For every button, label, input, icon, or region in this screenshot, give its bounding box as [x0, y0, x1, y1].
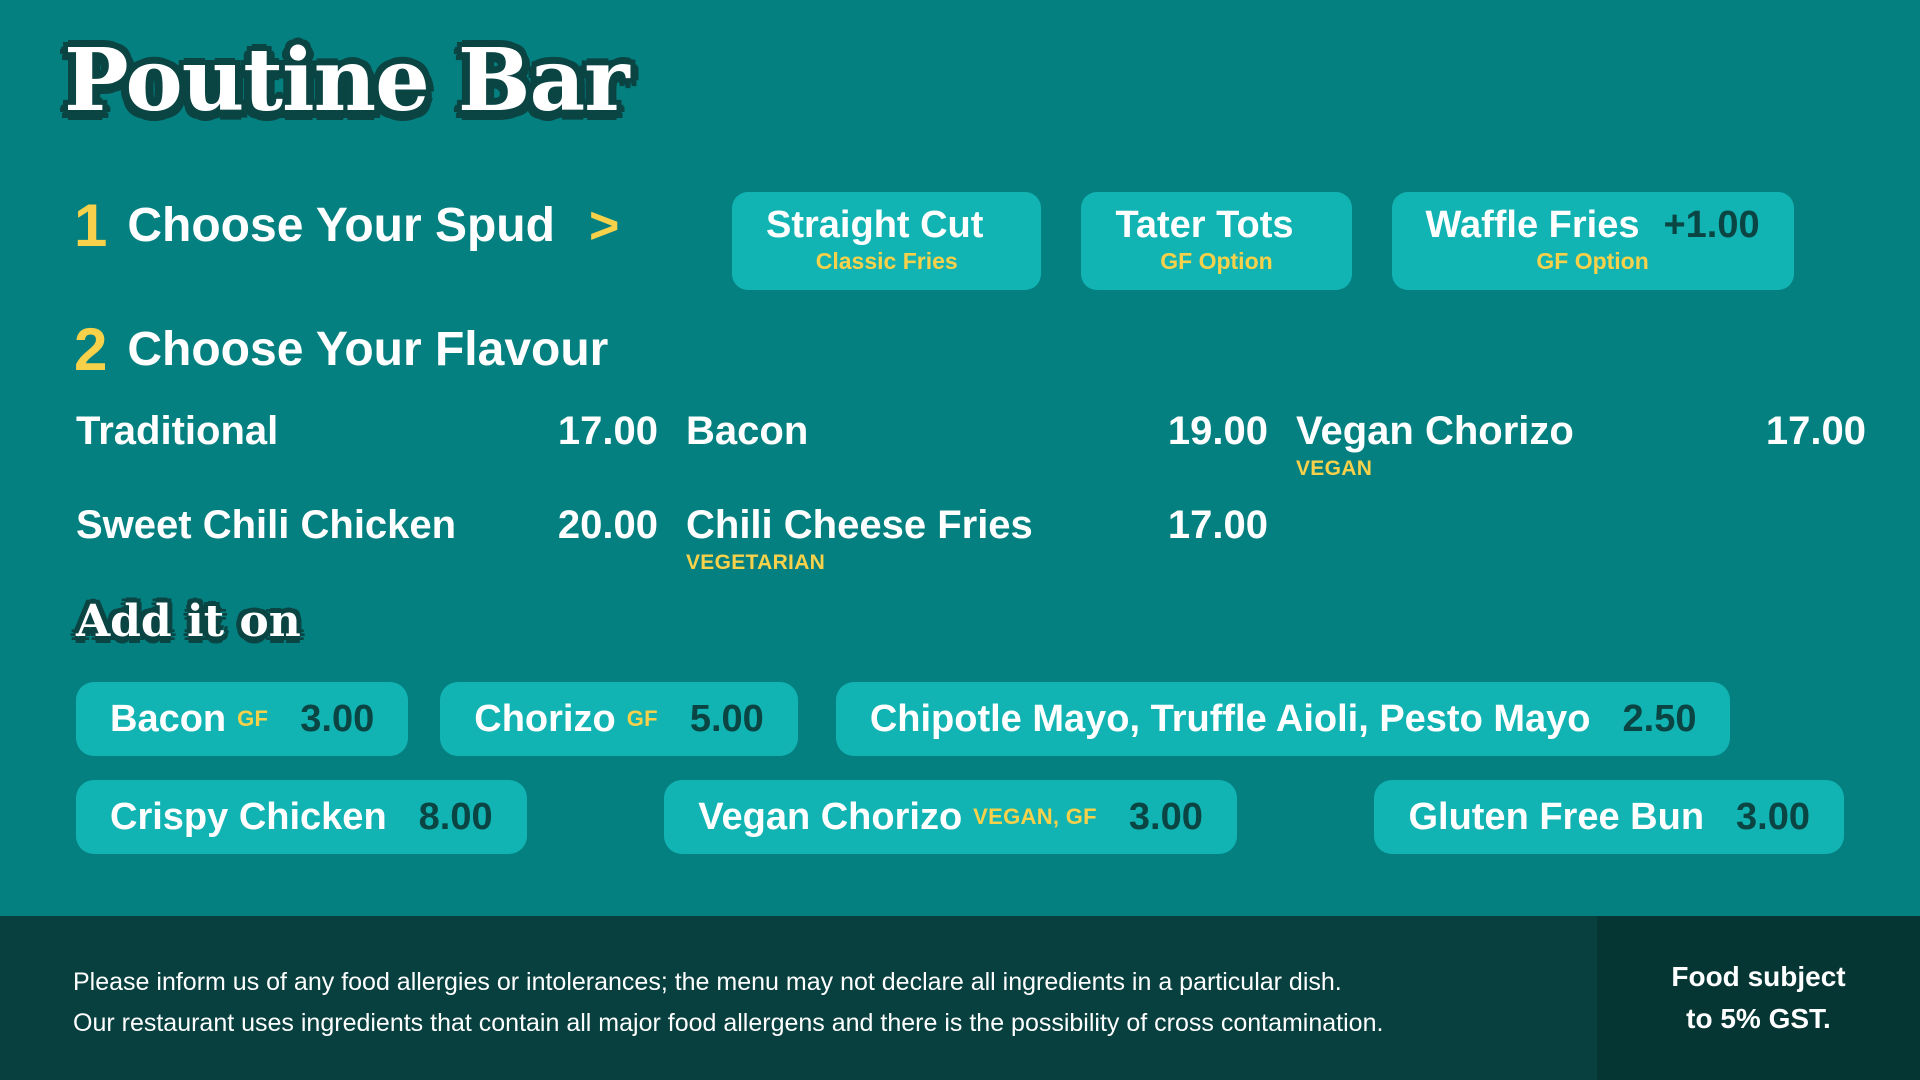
- gst-notice-line-2: to 5% GST.: [1686, 998, 1831, 1040]
- addons-list: Bacon GF 3.00 Chorizo GF 5.00 Chipotle M…: [76, 682, 1844, 878]
- flavour-item-traditional[interactable]: Traditional 17.00: [76, 410, 686, 452]
- addon-item-vegan-chorizo[interactable]: Vegan Chorizo VEGAN, GF 3.00: [664, 780, 1237, 854]
- flavour-item-bacon[interactable]: Bacon 19.00: [686, 410, 1296, 452]
- addon-price: 5.00: [690, 700, 764, 738]
- addon-item-crispy-chicken[interactable]: Crispy Chicken 8.00: [76, 780, 527, 854]
- spud-option-subtitle: GF Option: [1160, 249, 1272, 274]
- flavour-texts: Sweet Chili Chicken: [76, 504, 488, 546]
- addon-name: Chorizo: [474, 700, 615, 738]
- flavour-texts: Bacon: [686, 410, 1098, 452]
- addon-item-mayo-selection[interactable]: Chipotle Mayo, Truffle Aioli, Pesto Mayo…: [836, 682, 1731, 756]
- page-title: Poutine Bar: [64, 38, 629, 124]
- flavour-row: Sweet Chili Chicken 20.00 Chili Cheese F…: [76, 504, 1866, 576]
- step-2-label: Choose Your Flavour: [127, 326, 608, 374]
- spud-option-main: Tater Tots: [1115, 206, 1317, 246]
- gst-notice: Food subject to 5% GST.: [1597, 916, 1920, 1080]
- spud-option-tater-tots[interactable]: Tater Tots GF Option: [1081, 192, 1351, 290]
- gst-notice-line-1: Food subject: [1671, 956, 1845, 998]
- flavour-price: 17.00: [488, 410, 686, 452]
- flavour-texts: Traditional: [76, 410, 488, 452]
- addon-price: 3.00: [1736, 798, 1810, 836]
- addon-diet-tag: GF: [237, 708, 268, 730]
- flavour-name: Bacon: [686, 410, 1098, 452]
- spud-option-waffle-fries[interactable]: Waffle Fries +1.00 GF Option: [1392, 192, 1794, 290]
- spud-option-subtitle: GF Option: [1536, 249, 1648, 274]
- flavour-price: 20.00: [488, 504, 686, 546]
- addon-row: Crispy Chicken 8.00 Vegan Chorizo VEGAN,…: [76, 780, 1844, 854]
- flavour-item-sweet-chili-chicken[interactable]: Sweet Chili Chicken 20.00: [76, 504, 686, 546]
- addon-price: 3.00: [300, 700, 374, 738]
- allergen-disclaimer-line-1: Please inform us of any food allergies o…: [73, 962, 1383, 1003]
- spud-options-list: Straight Cut Classic Fries Tater Tots GF…: [732, 192, 1794, 290]
- flavour-price: 17.00: [1098, 504, 1296, 546]
- flavour-name: Traditional: [76, 410, 488, 452]
- spud-option-surcharge: +1.00: [1663, 206, 1759, 246]
- addon-name: Gluten Free Bun: [1408, 798, 1704, 836]
- addon-name: Chipotle Mayo, Truffle Aioli, Pesto Mayo: [870, 700, 1591, 738]
- addon-price: 2.50: [1623, 700, 1697, 738]
- spud-option-main: Straight Cut: [766, 206, 1007, 246]
- addon-price: 3.00: [1129, 798, 1203, 836]
- flavour-diet-tag: VEGETARIAN: [686, 550, 1098, 575]
- addon-name: Crispy Chicken: [110, 798, 387, 836]
- addon-name: Vegan Chorizo: [698, 798, 962, 836]
- spud-option-name: Straight Cut: [766, 206, 983, 246]
- flavour-name: Chili Cheese Fries: [686, 504, 1098, 546]
- step-1-heading: 1 Choose Your Spud >: [74, 196, 619, 256]
- addon-name: Bacon: [110, 700, 226, 738]
- flavour-list: Traditional 17.00 Bacon 19.00 Vegan Chor…: [76, 410, 1866, 597]
- addons-section-title: Add it on: [76, 600, 301, 644]
- poutine-bar-menu-board: Poutine Bar 1 Choose Your Spud > Straigh…: [0, 0, 1920, 1080]
- addon-item-chorizo[interactable]: Chorizo GF 5.00: [440, 682, 798, 756]
- flavour-texts: Vegan Chorizo VEGAN: [1296, 410, 1696, 482]
- allergen-disclaimer-line-2: Our restaurant uses ingredients that con…: [73, 1003, 1383, 1044]
- addon-diet-tag: VEGAN, GF: [973, 806, 1097, 828]
- step-1-number: 1: [74, 196, 107, 256]
- addon-diet-tag: GF: [627, 708, 658, 730]
- spud-option-straight-cut[interactable]: Straight Cut Classic Fries: [732, 192, 1041, 290]
- addon-row: Bacon GF 3.00 Chorizo GF 5.00 Chipotle M…: [76, 682, 1844, 756]
- step-1-label: Choose Your Spud: [127, 202, 555, 250]
- spud-option-main: Waffle Fries +1.00: [1426, 206, 1760, 246]
- chevron-right-icon: >: [589, 200, 619, 252]
- flavour-price: 19.00: [1098, 410, 1296, 452]
- flavour-item-vegan-chorizo[interactable]: Vegan Chorizo VEGAN 17.00: [1296, 410, 1866, 482]
- addon-item-gluten-free-bun[interactable]: Gluten Free Bun 3.00: [1374, 780, 1844, 854]
- flavour-diet-tag: VEGAN: [1296, 456, 1696, 481]
- flavour-name: Vegan Chorizo: [1296, 410, 1696, 452]
- allergen-disclaimer: Please inform us of any food allergies o…: [73, 962, 1383, 1043]
- flavour-item-chili-cheese-fries[interactable]: Chili Cheese Fries VEGETARIAN 17.00: [686, 504, 1296, 576]
- step-2-heading: 2 Choose Your Flavour: [74, 320, 608, 380]
- addon-item-bacon[interactable]: Bacon GF 3.00: [76, 682, 408, 756]
- step-2-number: 2: [74, 320, 107, 380]
- flavour-price: 17.00: [1696, 410, 1866, 452]
- flavour-name: Sweet Chili Chicken: [76, 504, 488, 546]
- flavour-row: Traditional 17.00 Bacon 19.00 Vegan Chor…: [76, 410, 1866, 482]
- spud-option-name: Tater Tots: [1115, 206, 1293, 246]
- spud-option-subtitle: Classic Fries: [816, 249, 958, 274]
- footer-bar: Please inform us of any food allergies o…: [0, 916, 1920, 1080]
- addon-price: 8.00: [419, 798, 493, 836]
- spud-option-name: Waffle Fries: [1426, 206, 1640, 246]
- flavour-texts: Chili Cheese Fries VEGETARIAN: [686, 504, 1098, 576]
